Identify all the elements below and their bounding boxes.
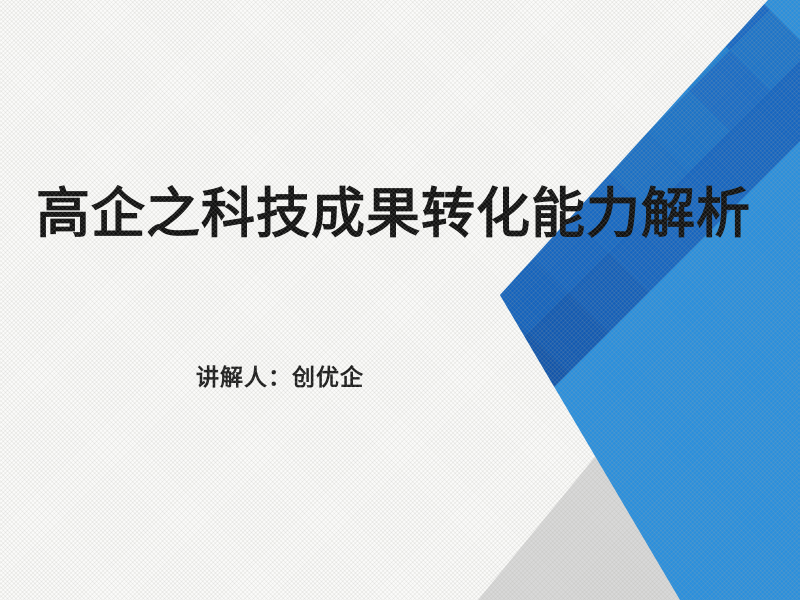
blue-mosaic-group — [206, 0, 800, 600]
slide-title: 高企之科技成果转化能力解析 — [36, 184, 736, 244]
slide-subtitle-presenter: 讲解人：创优企 — [196, 358, 364, 392]
presentation-slide: 高企之科技成果转化能力解析 讲解人：创优企 — [0, 0, 800, 600]
decorative-diamond-mosaic — [0, 0, 800, 600]
